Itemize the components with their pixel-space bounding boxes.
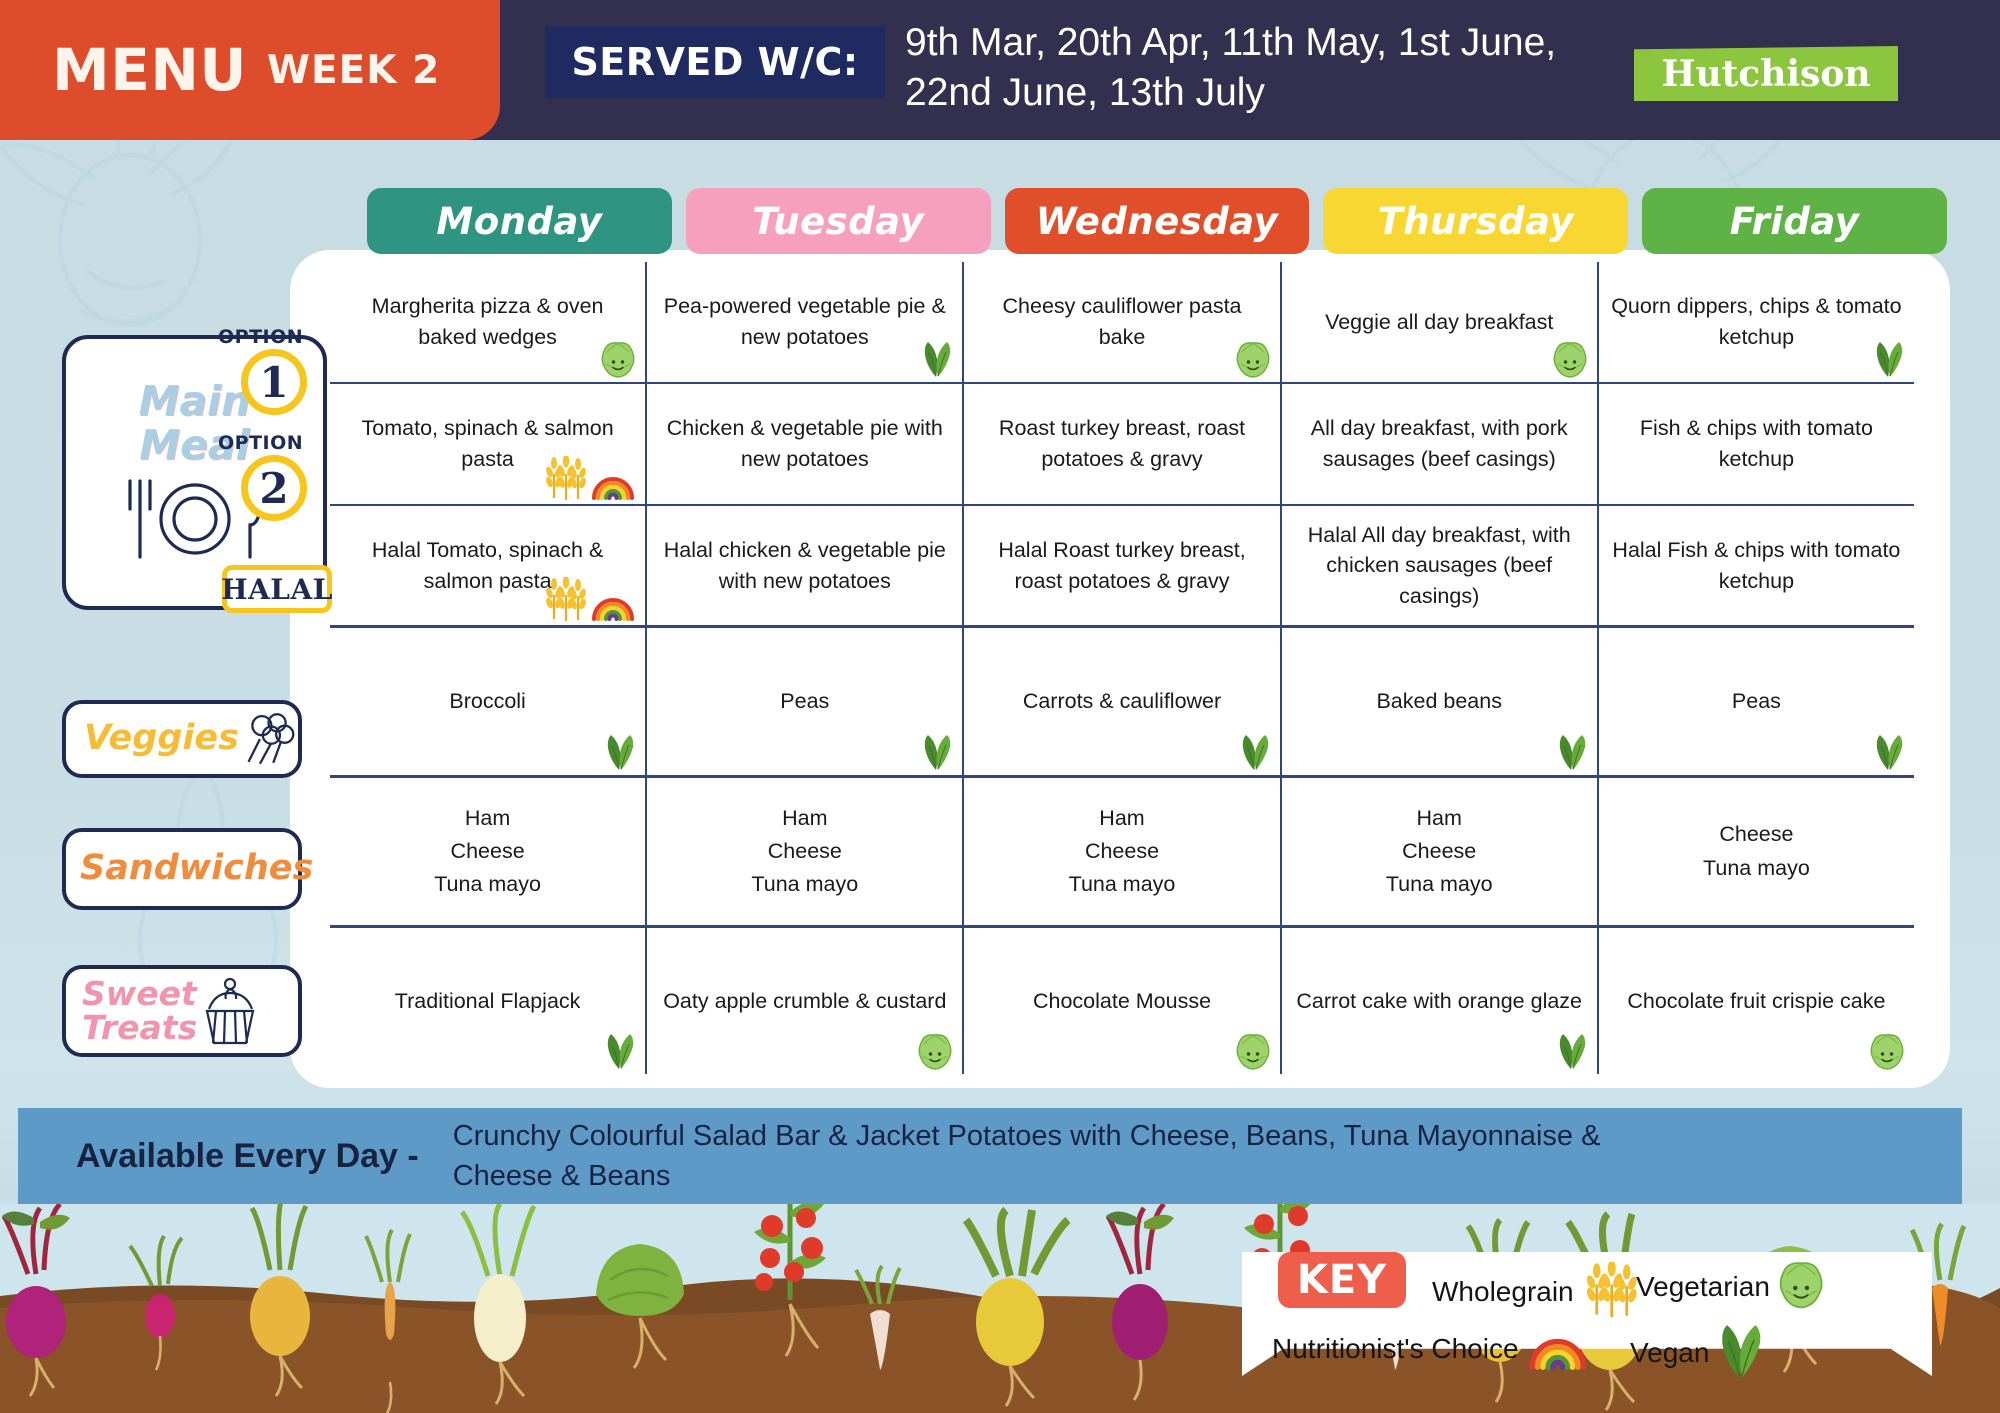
menu-cell-sandwiches-monday: Ham Cheese Tuna mayo xyxy=(330,778,647,925)
key-item-wholegrain: Wholegrain xyxy=(1432,1262,1638,1321)
vegan-icon xyxy=(922,733,952,771)
key-item-vegan: Vegan xyxy=(1630,1322,1763,1383)
dietary-icons xyxy=(543,577,635,621)
day-tab-label: Wednesday xyxy=(1036,200,1278,243)
key-item-nutritionists-choice: Nutritionist's Choice xyxy=(1272,1324,1587,1374)
menu-cell-veggies-monday: Broccoli xyxy=(330,628,647,775)
key-badge: KEY xyxy=(1278,1252,1406,1308)
menu-item-text: Traditional Flapjack xyxy=(395,986,581,1017)
sandwiches-text: Sandwiches xyxy=(80,851,313,887)
vegan-icon xyxy=(1874,340,1904,378)
menu-item-text: Cheese Tuna mayo xyxy=(1703,818,1810,885)
vegan-icon xyxy=(605,733,635,771)
menu-item-text: Baked beans xyxy=(1376,686,1502,717)
menu-cell-sweet-treats-thursday: Carrot cake with orange glaze xyxy=(1282,928,1599,1074)
dietary-icons xyxy=(1557,733,1587,771)
day-tab-label: Tuesday xyxy=(752,200,924,243)
menu-item-text: Broccoli xyxy=(449,686,525,717)
menu-item-text: Veggie all day breakfast xyxy=(1325,307,1553,338)
sweet-treats-text: Sweet Treats xyxy=(82,977,197,1044)
nutritionist-choice-icon xyxy=(591,466,635,500)
menu-row-halal: Halal Tomato, spinach & salmon pasta xyxy=(330,506,1914,628)
hutchison-logo-text: Hutchison xyxy=(1661,53,1870,95)
wholegrain-icon xyxy=(543,577,587,621)
option-2-word: OPTION xyxy=(218,432,303,454)
hutchison-logo: Hutchison xyxy=(1634,46,1898,101)
option-1-badge: OPTION 1 xyxy=(222,330,326,434)
menu-item-text: Chocolate fruit crispie cake xyxy=(1627,986,1885,1017)
dietary-icons xyxy=(922,733,952,771)
dietary-icons xyxy=(1236,342,1270,378)
menu-title-tab: MENU WEEK 2 xyxy=(0,0,500,140)
vegetarian-icon xyxy=(1236,342,1270,378)
dietary-icons xyxy=(1874,340,1904,378)
menu-row-option-2: Tomato, spinach & salmon pasta xyxy=(330,384,1914,506)
veggies-text: Veggies xyxy=(84,721,239,757)
vegan-icon xyxy=(1557,1032,1587,1070)
menu-word: MENU xyxy=(52,36,247,104)
menu-cell-halal-monday: Halal Tomato, spinach & salmon pasta xyxy=(330,506,647,625)
vegetarian-icon xyxy=(1553,342,1587,378)
dietary-icons xyxy=(918,1034,952,1070)
vegan-icon xyxy=(922,340,952,378)
vegan-icon xyxy=(605,1032,635,1070)
vegan-icon xyxy=(1874,733,1904,771)
vegetarian-icon xyxy=(1870,1034,1904,1070)
dietary-icons xyxy=(543,456,635,500)
served-dates: 9th Mar, 20th Apr, 11th May, 1st June, 2… xyxy=(905,18,1565,118)
dietary-icons xyxy=(605,1032,635,1070)
dietary-icons xyxy=(601,342,635,378)
nutritionist-choice-icon xyxy=(1528,1324,1587,1374)
day-tab-label: Monday xyxy=(436,200,602,243)
menu-item-text: Cheesy cauliflower pasta bake xyxy=(976,291,1267,352)
menu-item-text: Ham Cheese Tuna mayo xyxy=(434,802,541,902)
menu-cell-halal-thursday: Halal All day breakfast, with chicken sa… xyxy=(1282,506,1599,625)
day-tab-wednesday[interactable]: Wednesday xyxy=(1005,188,1310,254)
served-wc-label: SERVED W/C: xyxy=(545,26,885,98)
vegetarian-icon xyxy=(918,1034,952,1070)
dietary-icons xyxy=(1557,1032,1587,1070)
wholegrain-icon xyxy=(543,456,587,500)
menu-item-text: Chicken & vegetable pie with new potatoe… xyxy=(659,413,950,474)
menu-grid: Margherita pizza & oven baked wedges Pea… xyxy=(330,262,1914,1074)
option-2-number: 2 xyxy=(259,464,288,513)
dietary-icons xyxy=(1553,342,1587,378)
menu-item-text: Peas xyxy=(780,686,829,717)
nutritionist-choice-icon xyxy=(591,587,635,621)
key-label-vegan: Vegan xyxy=(1630,1337,1709,1369)
available-every-day-label: Available Every Day - xyxy=(76,1137,419,1176)
dietary-icons xyxy=(1874,733,1904,771)
week-word: WEEK 2 xyxy=(267,48,440,93)
menu-cell-sweet-treats-tuesday: Oaty apple crumble & custard xyxy=(647,928,964,1074)
menu-cell-option-2-wednesday: Roast turkey breast, roast potatoes & gr… xyxy=(964,384,1281,504)
menu-item-text: Halal chicken & vegetable pie with new p… xyxy=(659,535,950,596)
menu-cell-halal-tuesday: Halal chicken & vegetable pie with new p… xyxy=(647,506,964,625)
menu-cell-option-1-monday: Margherita pizza & oven baked wedges xyxy=(330,262,647,382)
vegetarian-icon xyxy=(1779,1262,1823,1309)
menu-cell-option-2-friday: Fish & chips with tomato ketchup xyxy=(1599,384,1914,504)
key-label-vegetarian: Vegetarian xyxy=(1636,1271,1770,1303)
day-tab-friday[interactable]: Friday xyxy=(1642,188,1947,254)
menu-cell-sandwiches-wednesday: Ham Cheese Tuna mayo xyxy=(964,778,1281,925)
halal-badge-text: HALAL xyxy=(221,573,333,606)
menu-item-text: Carrot cake with orange glaze xyxy=(1296,986,1582,1017)
vegan-icon xyxy=(1718,1322,1763,1379)
sidebar-label-sweet-treats: Sweet Treats xyxy=(62,965,302,1057)
dietary-icons xyxy=(922,340,952,378)
menu-item-text: Roast turkey breast, roast potatoes & gr… xyxy=(976,413,1267,474)
menu-item-text: Halal Roast turkey breast, roast potatoe… xyxy=(976,535,1267,596)
menu-cell-veggies-tuesday: Peas xyxy=(647,628,964,775)
halal-badge: HALAL xyxy=(222,565,332,613)
vegan-icon xyxy=(1557,733,1587,771)
sidebar-label-veggies: Veggies xyxy=(62,700,302,778)
menu-cell-option-1-friday: Quorn dippers, chips & tomato ketchup xyxy=(1599,262,1914,382)
menu-cell-option-1-wednesday: Cheesy cauliflower pasta bake xyxy=(964,262,1281,382)
menu-item-text: Ham Cheese Tuna mayo xyxy=(1069,802,1176,902)
vegan-icon xyxy=(1718,1322,1763,1383)
cupcake-icon xyxy=(197,975,263,1047)
menu-row-option-1: Margherita pizza & oven baked wedges Pea… xyxy=(330,262,1914,384)
key-label-wholegrain: Wholegrain xyxy=(1432,1276,1574,1308)
menu-cell-option-1-thursday: Veggie all day breakfast xyxy=(1282,262,1599,382)
menu-cell-option-2-thursday: All day breakfast, with pork sausages (b… xyxy=(1282,384,1599,504)
menu-item-text: Oaty apple crumble & custard xyxy=(663,986,946,1017)
day-tab-tuesday[interactable]: Tuesday xyxy=(686,188,991,254)
dietary-icons xyxy=(1236,1034,1270,1070)
day-tab-label: Friday xyxy=(1730,200,1860,243)
key-label-nutritionists-choice: Nutritionist's Choice xyxy=(1272,1333,1519,1365)
menu-cell-sweet-treats-monday: Traditional Flapjack xyxy=(330,928,647,1074)
menu-item-text: All day breakfast, with pork sausages (b… xyxy=(1294,413,1585,474)
vegetarian-icon xyxy=(601,342,635,378)
dietary-icons xyxy=(605,733,635,771)
menu-row-sandwiches: Ham Cheese Tuna mayoHam Cheese Tuna mayo… xyxy=(330,778,1914,928)
wholegrain-icon xyxy=(1583,1262,1638,1321)
available-every-day-items: Crunchy Colourful Salad Bar & Jacket Pot… xyxy=(453,1116,1633,1196)
dietary-icons xyxy=(1870,1034,1904,1070)
menu-item-text: Ham Cheese Tuna mayo xyxy=(1386,802,1493,902)
menu-item-text: Peas xyxy=(1732,686,1781,717)
menu-item-text: Chocolate Mousse xyxy=(1033,986,1211,1017)
menu-cell-option-2-tuesday: Chicken & vegetable pie with new potatoe… xyxy=(647,384,964,504)
page-header: MENU WEEK 2 SERVED W/C: 9th Mar, 20th Ap… xyxy=(0,0,2000,140)
wholegrain-icon xyxy=(1583,1262,1638,1317)
menu-item-text: Margherita pizza & oven baked wedges xyxy=(342,291,633,352)
option-1-number: 1 xyxy=(259,358,288,407)
menu-cell-sandwiches-tuesday: Ham Cheese Tuna mayo xyxy=(647,778,964,925)
vegetarian-icon xyxy=(1779,1262,1823,1313)
menu-item-text: Halal Fish & chips with tomato ketchup xyxy=(1611,535,1902,596)
menu-cell-option-2-monday: Tomato, spinach & salmon pasta xyxy=(330,384,647,504)
menu-item-text: Ham Cheese Tuna mayo xyxy=(751,802,858,902)
available-every-day-banner: Available Every Day - Crunchy Colourful … xyxy=(18,1108,1962,1204)
menu-cell-halal-wednesday: Halal Roast turkey breast, roast potatoe… xyxy=(964,506,1281,625)
menu-cell-option-1-tuesday: Pea-powered vegetable pie & new potatoes xyxy=(647,262,964,382)
menu-cell-sweet-treats-wednesday: Chocolate Mousse xyxy=(964,928,1281,1074)
menu-item-text: Pea-powered vegetable pie & new potatoes xyxy=(659,291,950,352)
menu-item-text: Carrots & cauliflower xyxy=(1023,686,1221,717)
dietary-icons xyxy=(1240,733,1270,771)
menu-cell-halal-friday: Halal Fish & chips with tomato ketchup xyxy=(1599,506,1914,625)
option-1-word: OPTION xyxy=(218,326,303,348)
menu-row-veggies: Broccoli Peas Carrots & cauliflower Bake… xyxy=(330,628,1914,778)
day-tab-thursday[interactable]: Thursday xyxy=(1323,188,1628,254)
nutritionist-choice-icon xyxy=(1528,1324,1587,1370)
sidebar-label-sandwiches: Sandwiches xyxy=(62,828,302,910)
menu-cell-sweet-treats-friday: Chocolate fruit crispie cake xyxy=(1599,928,1914,1074)
served-wc-text: SERVED W/C: xyxy=(571,40,858,84)
menu-item-text: Halal All day breakfast, with chicken sa… xyxy=(1294,520,1585,612)
vegan-icon xyxy=(1240,733,1270,771)
menu-row-sweet-treats: Traditional Flapjack Oaty apple crumble … xyxy=(330,928,1914,1074)
menu-cell-veggies-thursday: Baked beans xyxy=(1282,628,1599,775)
day-tab-monday[interactable]: Monday xyxy=(367,188,672,254)
menu-cell-sandwiches-thursday: Ham Cheese Tuna mayo xyxy=(1282,778,1599,925)
menu-cell-veggies-wednesday: Carrots & cauliflower xyxy=(964,628,1281,775)
key-item-vegetarian: Vegetarian xyxy=(1636,1262,1823,1313)
menu-cell-sandwiches-friday: Cheese Tuna mayo xyxy=(1599,778,1914,925)
day-tabs: MondayTuesdayWednesdayThursdayFriday xyxy=(367,188,1947,254)
key-badge-text: KEY xyxy=(1297,1257,1387,1303)
vegetarian-icon xyxy=(1236,1034,1270,1070)
day-tab-label: Thursday xyxy=(1377,200,1574,243)
option-2-badge: OPTION 2 xyxy=(222,436,326,540)
menu-cell-veggies-friday: Peas xyxy=(1599,628,1914,775)
menu-item-text: Fish & chips with tomato ketchup xyxy=(1611,413,1902,474)
menu-item-text: Quorn dippers, chips & tomato ketchup xyxy=(1611,291,1902,352)
broccoli-icon xyxy=(239,709,298,769)
